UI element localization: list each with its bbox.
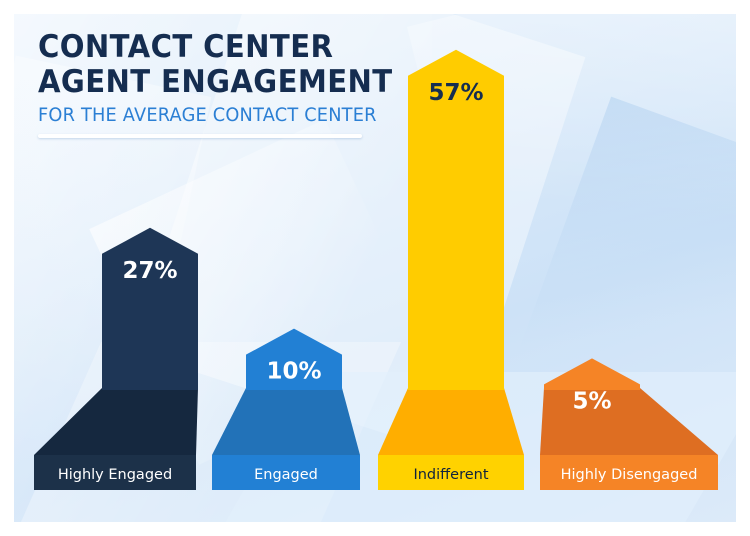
bar-category-label: Highly Disengaged [561, 467, 698, 483]
bar-value-label: 10% [266, 359, 321, 385]
bar-base [378, 388, 524, 455]
bar-value-label: 5% [572, 388, 611, 414]
chart-panel: 27%Highly Engaged10%Engaged57%Indifferen… [12, 12, 738, 524]
bar-base [540, 388, 718, 455]
page-title-line-1: CONTACT CENTER [38, 30, 433, 65]
bar-column [544, 358, 640, 390]
heading-block: CONTACT CENTER AGENT ENGAGEMENT FOR THE … [38, 30, 458, 138]
page-title-line-2: AGENT ENGAGEMENT [38, 65, 433, 100]
bar-base [212, 388, 360, 455]
infographic-root: 27%Highly Engaged10%Engaged57%Indifferen… [0, 0, 750, 536]
bar-value-label: 27% [122, 258, 177, 284]
bar-group [212, 329, 360, 490]
bar-column [102, 228, 198, 390]
title-underline-rule [38, 134, 362, 138]
page-subtitle: FOR THE AVERAGE CONTACT CENTER [38, 105, 441, 127]
bar-category-label: Engaged [254, 467, 318, 483]
bar-category-label: Indifferent [413, 467, 488, 483]
bar-category-label: Highly Engaged [58, 467, 172, 483]
bar-base [34, 388, 198, 455]
